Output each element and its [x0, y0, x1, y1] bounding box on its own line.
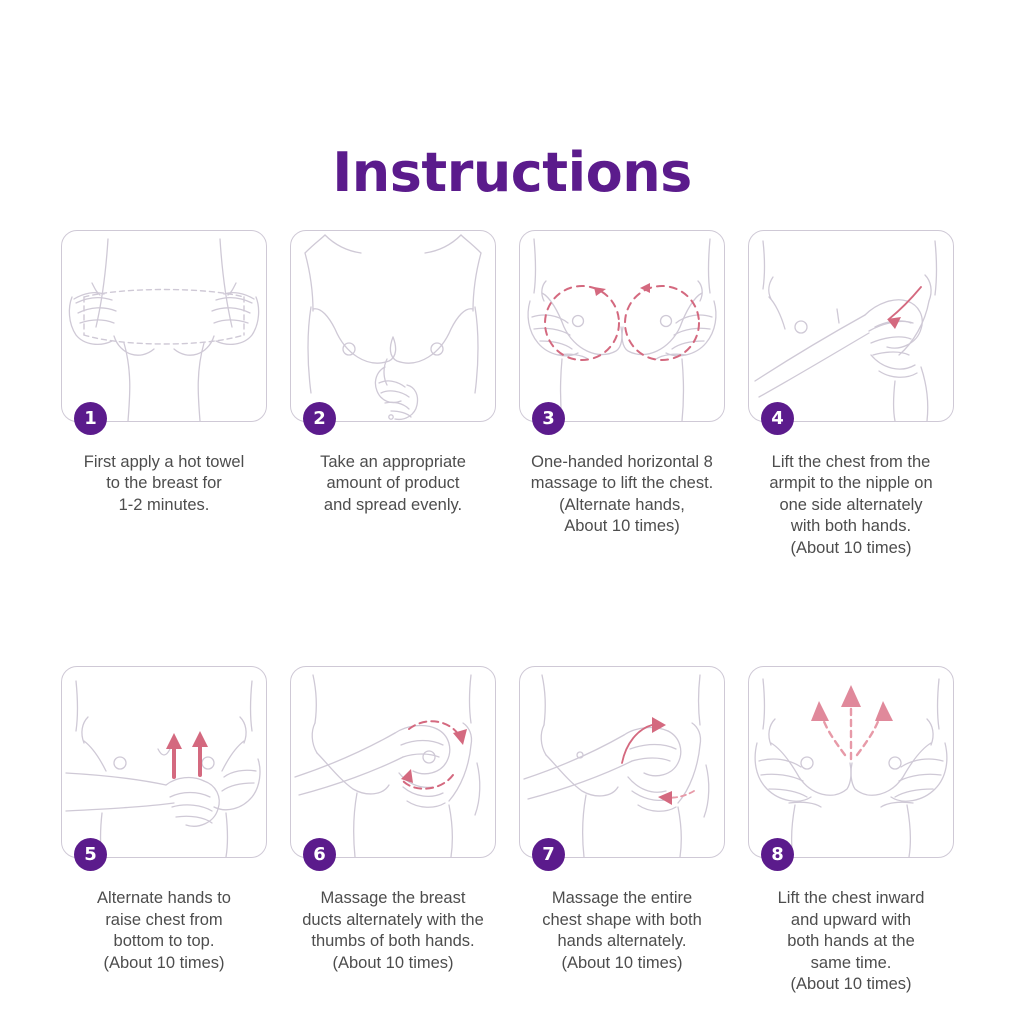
- step-number-badge-8: 8: [761, 838, 794, 871]
- step-card-8: 8 Lift the chest inward and upward with …: [749, 666, 953, 995]
- instructions-page: Instructions: [0, 0, 1024, 1024]
- step-caption-1: First apply a hot towel to the breast fo…: [56, 452, 272, 516]
- step-caption-3: One-handed horizontal 8 massage to lift …: [514, 452, 730, 538]
- step-caption-4: Lift the chest from the armpit to the ni…: [736, 452, 966, 559]
- step-number-badge-3: 3: [532, 402, 565, 435]
- steps-grid: 1 First apply a hot towel to the breast …: [62, 230, 968, 995]
- step-number-badge-6: 6: [303, 838, 336, 871]
- step-illustration-4: 4: [748, 230, 954, 422]
- step-number-badge-1: 1: [74, 402, 107, 435]
- step-number-badge-7: 7: [532, 838, 565, 871]
- step-card-4: 4 Lift the chest from the armpit to the …: [749, 230, 953, 559]
- steps-row-2: 5 Alternate hands to raise chest from bo…: [62, 666, 968, 995]
- step-illustration-2: 2: [290, 230, 496, 422]
- step-card-6: 6 Massage the breast ducts alternately w…: [291, 666, 495, 995]
- step-illustration-6: 6: [290, 666, 496, 858]
- step-caption-8: Lift the chest inward and upward with bo…: [736, 888, 966, 995]
- step-card-5: 5 Alternate hands to raise chest from bo…: [62, 666, 266, 995]
- step-illustration-3: 3: [519, 230, 725, 422]
- step-number-badge-2: 2: [303, 402, 336, 435]
- page-title: Instructions: [0, 146, 1024, 200]
- step-illustration-7: 7: [519, 666, 725, 858]
- step-card-2: 2 Take an appropriate amount of product …: [291, 230, 495, 559]
- step-number-badge-5: 5: [74, 838, 107, 871]
- step-caption-7: Massage the entire chest shape with both…: [514, 888, 730, 974]
- step-number-badge-4: 4: [761, 402, 794, 435]
- steps-row-1: 1 First apply a hot towel to the breast …: [62, 230, 968, 559]
- step-caption-5: Alternate hands to raise chest from bott…: [56, 888, 272, 974]
- step-illustration-1: 1: [61, 230, 267, 422]
- step-caption-2: Take an appropriate amount of product an…: [285, 452, 501, 516]
- step-illustration-8: 8: [748, 666, 954, 858]
- step-card-3: 3 One-handed horizontal 8 massage to lif…: [520, 230, 724, 559]
- step-caption-6: Massage the breast ducts alternately wit…: [278, 888, 508, 974]
- step-illustration-5: 5: [61, 666, 267, 858]
- step-card-1: 1 First apply a hot towel to the breast …: [62, 230, 266, 559]
- step-card-7: 7 Massage the entire chest shape with bo…: [520, 666, 724, 995]
